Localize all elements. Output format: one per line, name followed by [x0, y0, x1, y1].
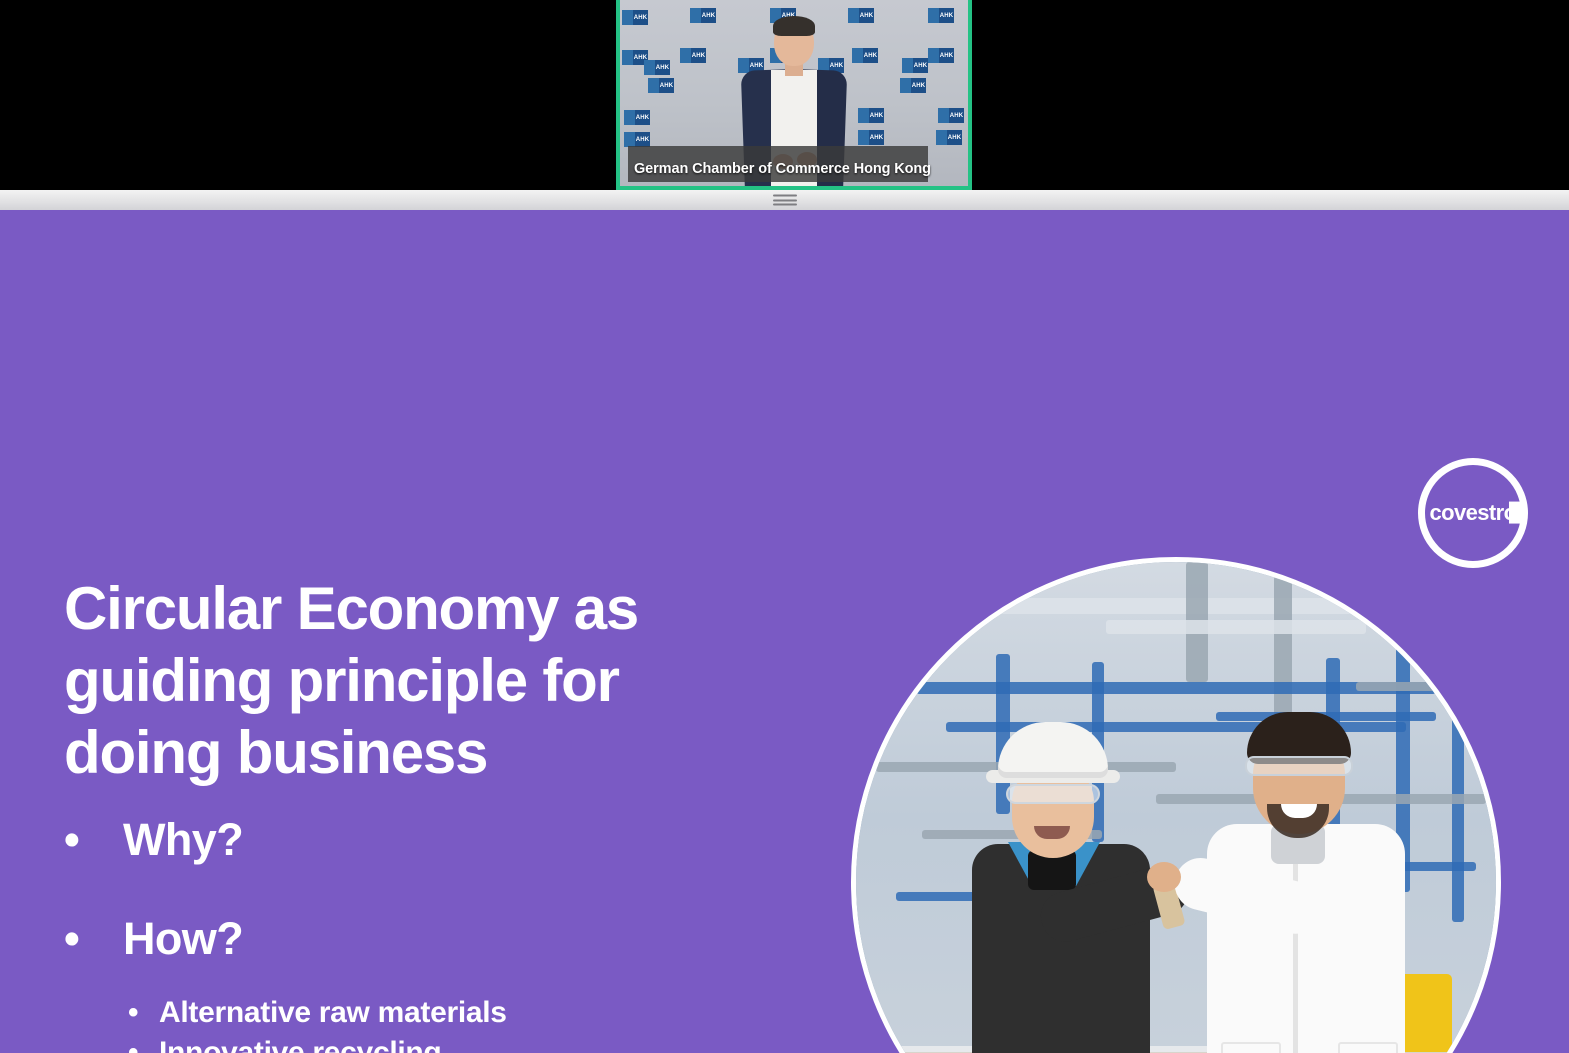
- photo-background: [856, 562, 1496, 1053]
- sub-bullet-label: Alternative raw materials: [159, 993, 507, 1033]
- slide-photo-circle: [851, 557, 1501, 1053]
- participant-name-label: German Chamber of Commerce Hong Kong: [634, 161, 931, 177]
- panel-divider[interactable]: [0, 190, 1569, 210]
- slide-title: Circular Economy as guiding principle fo…: [64, 573, 704, 789]
- bullet-glyph: •: [64, 915, 123, 964]
- logo-wordmark: covestro: [1430, 502, 1517, 524]
- worker-with-lab-coat: [1189, 712, 1424, 1053]
- video-conference-strip: AHK AHK AHK AHK AHK AHK AHK AHK AHK AHK …: [0, 0, 1569, 190]
- bullet-glyph: •: [64, 816, 123, 865]
- ahk-logo-text: AHK: [633, 10, 648, 25]
- sub-bullet-item-innovative-recycling: • Innovative recycling: [128, 1033, 784, 1053]
- participant-video-tile[interactable]: AHK AHK AHK AHK AHK AHK AHK AHK AHK AHK …: [616, 0, 972, 190]
- bullet-label: Why?: [123, 816, 243, 865]
- video-feed: AHK AHK AHK AHK AHK AHK AHK AHK AHK AHK …: [620, 0, 968, 186]
- resize-handle-icon[interactable]: [773, 195, 797, 206]
- bullet-item-why: • Why?: [64, 816, 784, 865]
- bullet-glyph: •: [128, 993, 159, 1033]
- sub-bullet-label: Innovative recycling: [159, 1033, 441, 1053]
- worker-with-helmet: [946, 722, 1176, 1053]
- bullet-glyph: •: [128, 1033, 159, 1053]
- sub-bullet-list: • Alternative raw materials • Innovative…: [128, 993, 784, 1053]
- covestro-logo: covestro: [1418, 458, 1528, 568]
- bullet-item-how: • How?: [64, 915, 784, 964]
- sub-bullet-item-alternative-raw-materials: • Alternative raw materials: [128, 993, 784, 1033]
- slide-bullet-list: • Why? • How? • Alternative raw material…: [64, 816, 784, 1053]
- bullet-label: How?: [123, 915, 243, 964]
- presentation-slide: covestro Circular Economy as guiding pri…: [0, 210, 1569, 1053]
